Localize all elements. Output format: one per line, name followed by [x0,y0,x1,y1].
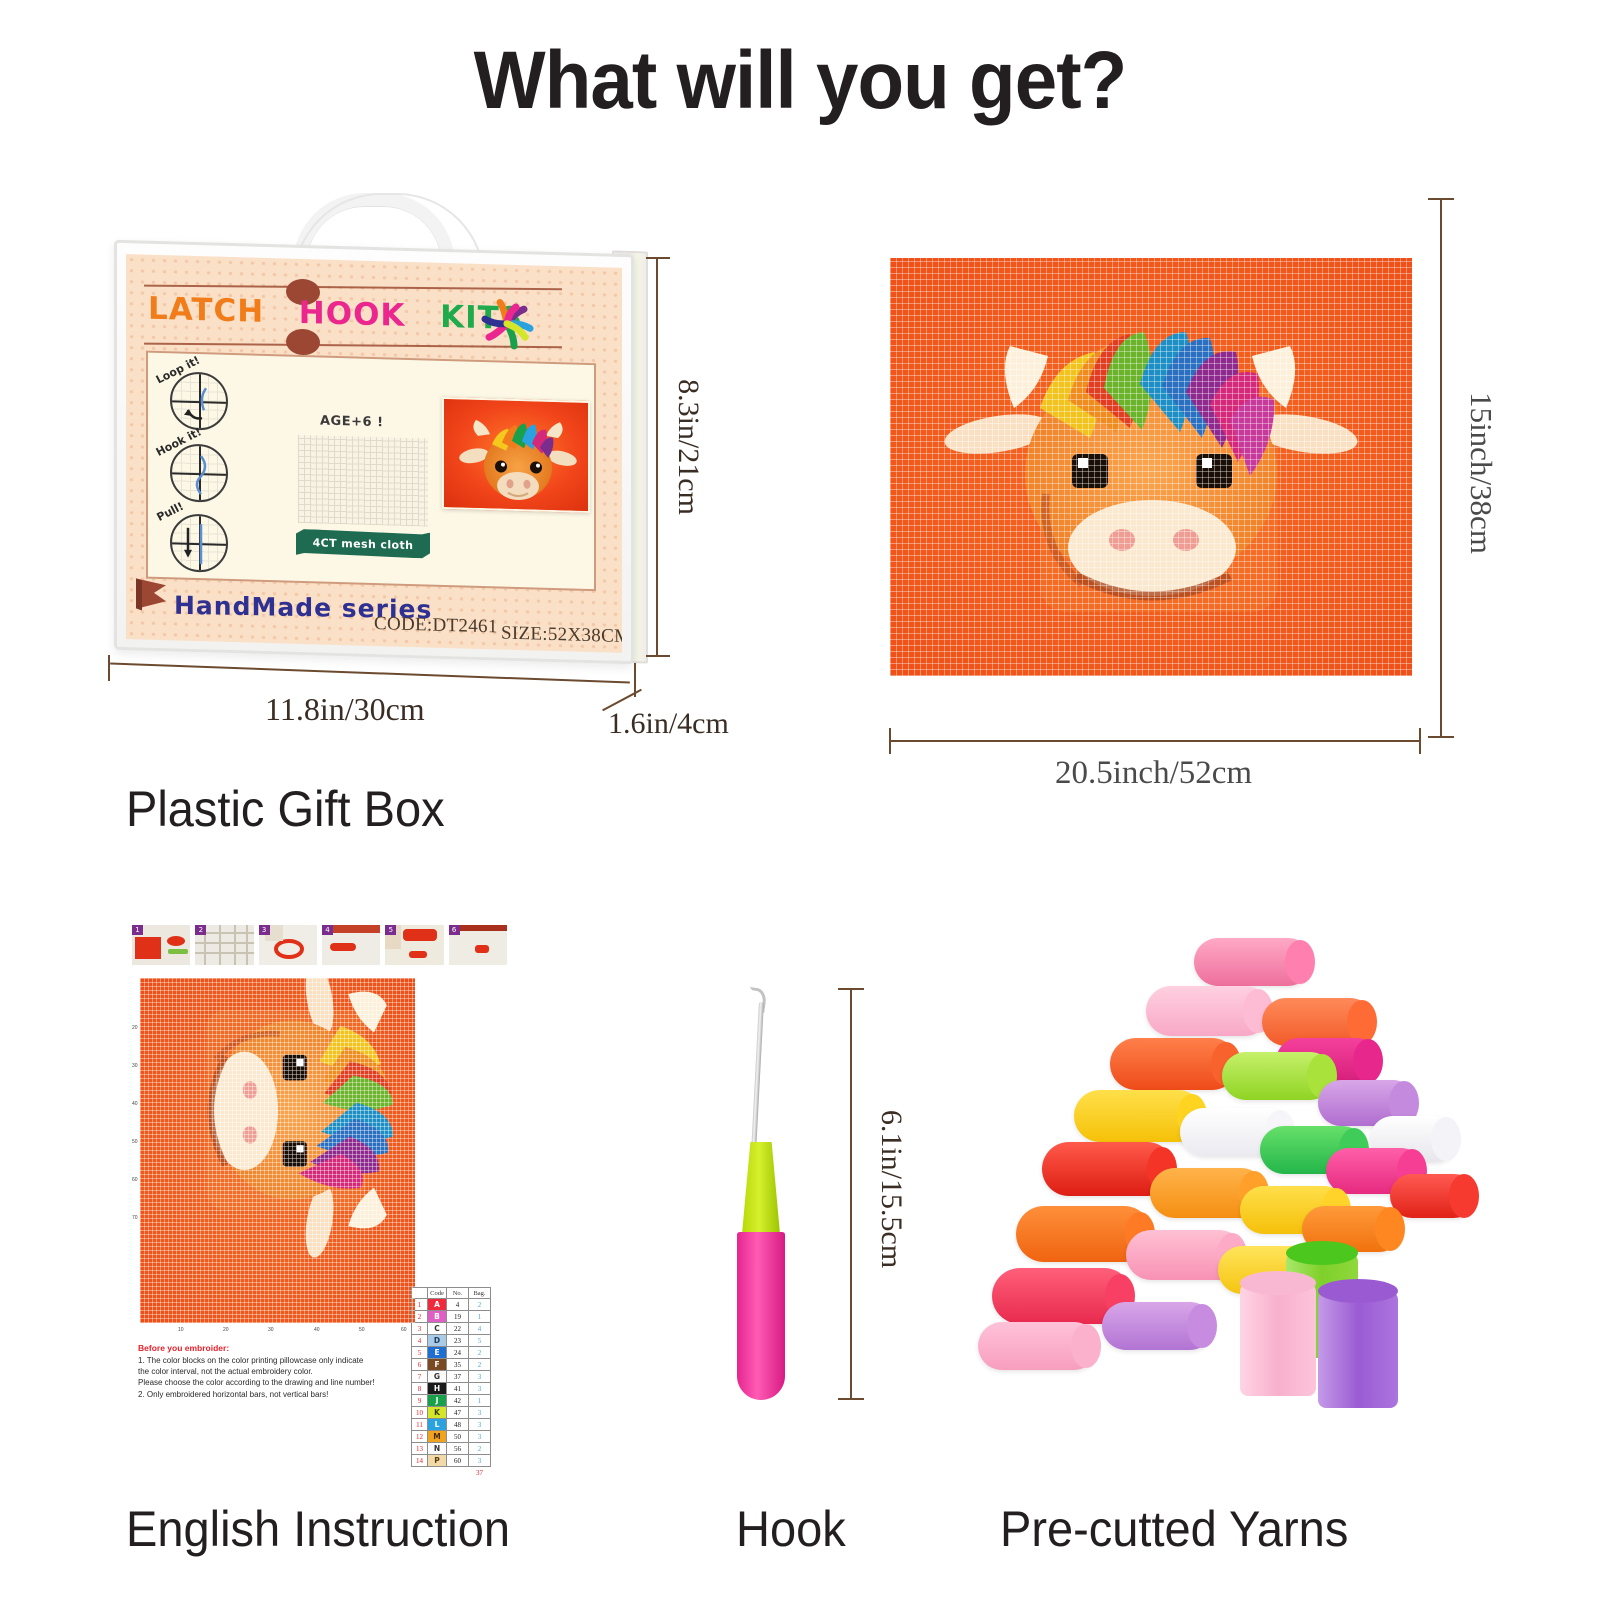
chart-ruler-mark: 50 [359,1327,365,1333]
yarn-bundle-standing [1240,1282,1316,1396]
chart-ruler-mark: 20 [223,1327,229,1333]
step-badge: 4 [322,925,333,935]
cell-bag: 2 [469,1359,491,1371]
pre-cut-yarns-figure [950,930,1480,1440]
cell-code: K [428,1407,447,1419]
col-header-code: Code [428,1288,447,1299]
cell-code: L [428,1419,447,1431]
cell-index: 10 [412,1407,428,1419]
step-thumbnail: 4 4 [322,925,380,965]
instruction-step-thumbnails: 1 1 2 2 3 3 4 4 5 [132,925,507,969]
caption-hook: Hook [736,1500,846,1558]
handmade-flag-icon [132,572,174,615]
chart-ruler-mark: 60 [132,1177,138,1183]
box-width-tick-left [108,655,110,681]
box-height-label: 8.3in/21cm [671,379,705,515]
cell-bag: 1 [469,1311,491,1323]
step-thumbnail: 5 5 [385,925,443,965]
box-depth-tick [634,663,636,697]
cell-no: 23 [447,1335,469,1347]
chart-ruler-mark: 50 [132,1139,138,1145]
age-recommendation: AGE+6 ! [320,413,384,430]
canvas-width-label: 20.5inch/52cm [1055,755,1252,792]
step-hook-circle-icon [170,443,228,503]
canvas-height-tick-bottom [1428,736,1454,738]
color-swatch: J [428,1395,446,1406]
canvas-height-label: 15inch/38cm [1463,392,1499,554]
cell-no: 56 [447,1443,469,1455]
chart-ruler-mark: 30 [268,1327,274,1333]
color-swatch: L [428,1419,446,1430]
hook-length-tick-bottom [838,1398,864,1400]
table-row: 1A42 [412,1299,491,1311]
gift-box-figure: LATCH HOOK KITS [100,185,670,685]
cell-bag: 2 [469,1347,491,1359]
chart-ruler-mark: 30 [132,1063,138,1069]
box-height-tick-bottom [646,655,670,657]
cell-index: 8 [412,1383,428,1395]
table-row: 13N562 [412,1443,491,1455]
cell-code: N [428,1443,447,1455]
cell-bag: 3 [469,1383,491,1395]
cell-code: B [428,1311,447,1323]
color-swatch: G [428,1371,446,1382]
before-embroider-line: 1. The color blocks on the color printin… [138,1355,408,1366]
canvas-height-tick-top [1428,198,1454,200]
step-thumbnail: 1 1 [132,925,190,965]
table-total-value: 37 [469,1467,491,1478]
cell-code: C [428,1323,447,1335]
hook-handle-lower [737,1232,785,1400]
cell-no: 35 [447,1359,469,1371]
box-height-tick-top [646,257,670,259]
cell-code: P [428,1455,447,1467]
box-depth-label: 1.6in/4cm [608,707,729,741]
cell-no: 19 [447,1311,469,1323]
caption-plastic-gift-box: Plastic Gift Box [126,780,445,838]
color-swatch: M [428,1431,446,1442]
product-code: CODE:DT2461 [374,613,498,638]
color-swatch: E [428,1347,446,1358]
cell-index: 3 [412,1323,428,1335]
box-front-print: LATCH HOOK KITS [126,254,622,653]
chart-ruler-mark: 10 [178,1327,184,1333]
step-thumbnail: 2 2 [195,925,253,965]
caption-english-instruction: English Instruction [126,1500,510,1558]
cell-bag: 4 [469,1323,491,1335]
cell-no: 41 [447,1383,469,1395]
step-badge: 1 [132,925,143,935]
chart-ruler-mark: 20 [132,1025,138,1031]
step-pull-circle-icon [170,513,228,573]
before-embroider-line: Please choose the color according to the… [138,1377,408,1388]
cell-bag: 2 [469,1299,491,1311]
chart-grid-overlay [140,978,415,1323]
color-swatch: B [428,1311,446,1322]
cell-index: 7 [412,1371,428,1383]
box-height-dimline [656,257,658,657]
instruction-sheet: 1 1 2 2 3 3 4 4 5 [118,895,518,1475]
table-total-row: 37 [412,1467,491,1478]
table-row: 8H413 [412,1383,491,1395]
hook-tip-icon [746,987,767,1013]
yarn-bundle [1102,1302,1214,1350]
cell-code: G [428,1371,447,1383]
color-swatch: C [428,1323,446,1334]
hook-needle [751,1002,764,1152]
cell-code: A [428,1299,447,1311]
box-width-label: 11.8in/30cm [265,691,425,728]
chart-ruler-mark: 60 [401,1327,407,1333]
yarn-bundle [1146,986,1270,1036]
cell-index: 12 [412,1431,428,1443]
table-row: 2B191 [412,1311,491,1323]
cell-no: 50 [447,1431,469,1443]
cell-code: J [428,1395,447,1407]
cell-no: 60 [447,1455,469,1467]
canvas-height-dimline [1440,198,1442,738]
cell-bag: 3 [469,1371,491,1383]
cell-index: 14 [412,1455,428,1467]
page-title: What will you get? [56,34,1544,128]
cell-index: 4 [412,1335,428,1347]
table-row: 12M503 [412,1431,491,1443]
table-row: 6F352 [412,1359,491,1371]
caption-pre-cutted-yarns: Pre-cutted Yarns [1000,1500,1348,1558]
hook-tool-figure: 6.1in/15.5cm [660,960,890,1450]
col-header-no: No. [447,1288,469,1299]
col-header-bag: Bag. [469,1288,491,1299]
chart-ruler-mark: 40 [132,1101,138,1107]
canvas-width-dimline [890,740,1420,742]
cell-bag: 3 [469,1431,491,1443]
step-thumbnail: 6 6 [449,925,507,965]
box-width-dimline [110,662,630,683]
step-badge: 2 [195,925,206,935]
mesh-cloth-swatch [298,435,428,527]
yarn-bundle [1194,938,1312,986]
brand-word-latch: LATCH [148,291,264,330]
cell-bag: 5 [469,1335,491,1347]
yarn-bundle [1390,1174,1476,1218]
finished-rug-photo [442,397,590,513]
box-instruction-panel: Loop it! Hook it! Pull! AGE+6 ! [146,351,596,592]
cell-no: 22 [447,1323,469,1335]
cell-index: 13 [412,1443,428,1455]
before-embroider-notes: Before you embroider: 1. The color block… [138,1343,408,1400]
product-size: SIZE:52X38CM [501,623,622,649]
cell-no: 47 [447,1407,469,1419]
cell-code: H [428,1383,447,1395]
yarn-bundle-standing [1318,1290,1398,1408]
canvas-width-tick-right [1419,728,1421,754]
pattern-chart [140,978,415,1323]
cell-code: D [428,1335,447,1347]
cell-no: 37 [447,1371,469,1383]
table-row: 9J421 [412,1395,491,1407]
cell-code: M [428,1431,447,1443]
step-badge: 6 [449,925,460,935]
color-code-table: Code No. Bag. 1A422B1913C2244D2355E2426F… [411,1287,491,1478]
english-instruction-figure: 1 1 2 2 3 3 4 4 5 [118,895,518,1475]
table-row: 11L483 [412,1419,491,1431]
step-badge: 3 [259,925,270,935]
hook-handle-upper [742,1142,780,1234]
cell-no: 42 [447,1395,469,1407]
cell-index: 9 [412,1395,428,1407]
brand-word-hook: HOOK [299,295,406,334]
cell-no: 4 [447,1299,469,1311]
color-swatch: K [428,1407,446,1418]
yarn-bundle [1110,1038,1238,1090]
color-swatch: F [428,1359,446,1370]
step-badge: 5 [385,925,396,935]
cell-no: 48 [447,1419,469,1431]
printed-mesh-canvas [890,258,1412,676]
cell-no: 24 [447,1347,469,1359]
color-swatch: D [428,1335,446,1346]
chart-ruler-mark: 70 [132,1215,138,1221]
cell-bag: 3 [469,1419,491,1431]
before-embroider-title: Before you embroider: [138,1343,408,1353]
cell-code: E [428,1347,447,1359]
pinwheel-logo-icon [478,294,536,354]
step-thumbnail: 3 3 [259,925,317,965]
table-header-row: Code No. Bag. [412,1288,491,1299]
cell-index: 11 [412,1419,428,1431]
hook-length-label: 6.1in/15.5cm [874,1110,908,1268]
canvas-width-tick-left [889,728,891,754]
color-swatch: P [428,1455,446,1466]
cell-bag: 2 [469,1443,491,1455]
hook-length-dimline [850,988,852,1400]
table-row: 3C224 [412,1323,491,1335]
color-swatch: N [428,1443,446,1454]
color-swatch: A [428,1299,446,1310]
brand-title: LATCH HOOK KITS [148,291,523,337]
chart-ruler-mark: 40 [314,1327,320,1333]
yarn-bundle [1222,1052,1334,1100]
table-row: 5E242 [412,1347,491,1359]
table-row: 4D235 [412,1335,491,1347]
hook-length-tick-top [838,988,864,990]
mesh-count-ribbon: 4CT mesh cloth [296,529,430,559]
table-row: 7G373 [412,1371,491,1383]
color-swatch: H [428,1383,446,1394]
yarn-bundle [978,1322,1098,1370]
cell-bag: 1 [469,1395,491,1407]
before-embroider-line: 2. Only embroidered horizontal bars, not… [138,1389,408,1400]
table-row: 10K473 [412,1407,491,1419]
cell-bag: 3 [469,1455,491,1467]
cell-index: 5 [412,1347,428,1359]
cell-index: 6 [412,1359,428,1371]
before-embroider-line: the color interval, not the actual embro… [138,1366,408,1377]
cell-code: F [428,1359,447,1371]
table-row: 14P603 [412,1455,491,1467]
step-loop-circle-icon [170,371,228,431]
printed-canvas-figure: 15inch/38cm 20.5inch/52cm [880,180,1500,780]
cell-bag: 3 [469,1407,491,1419]
